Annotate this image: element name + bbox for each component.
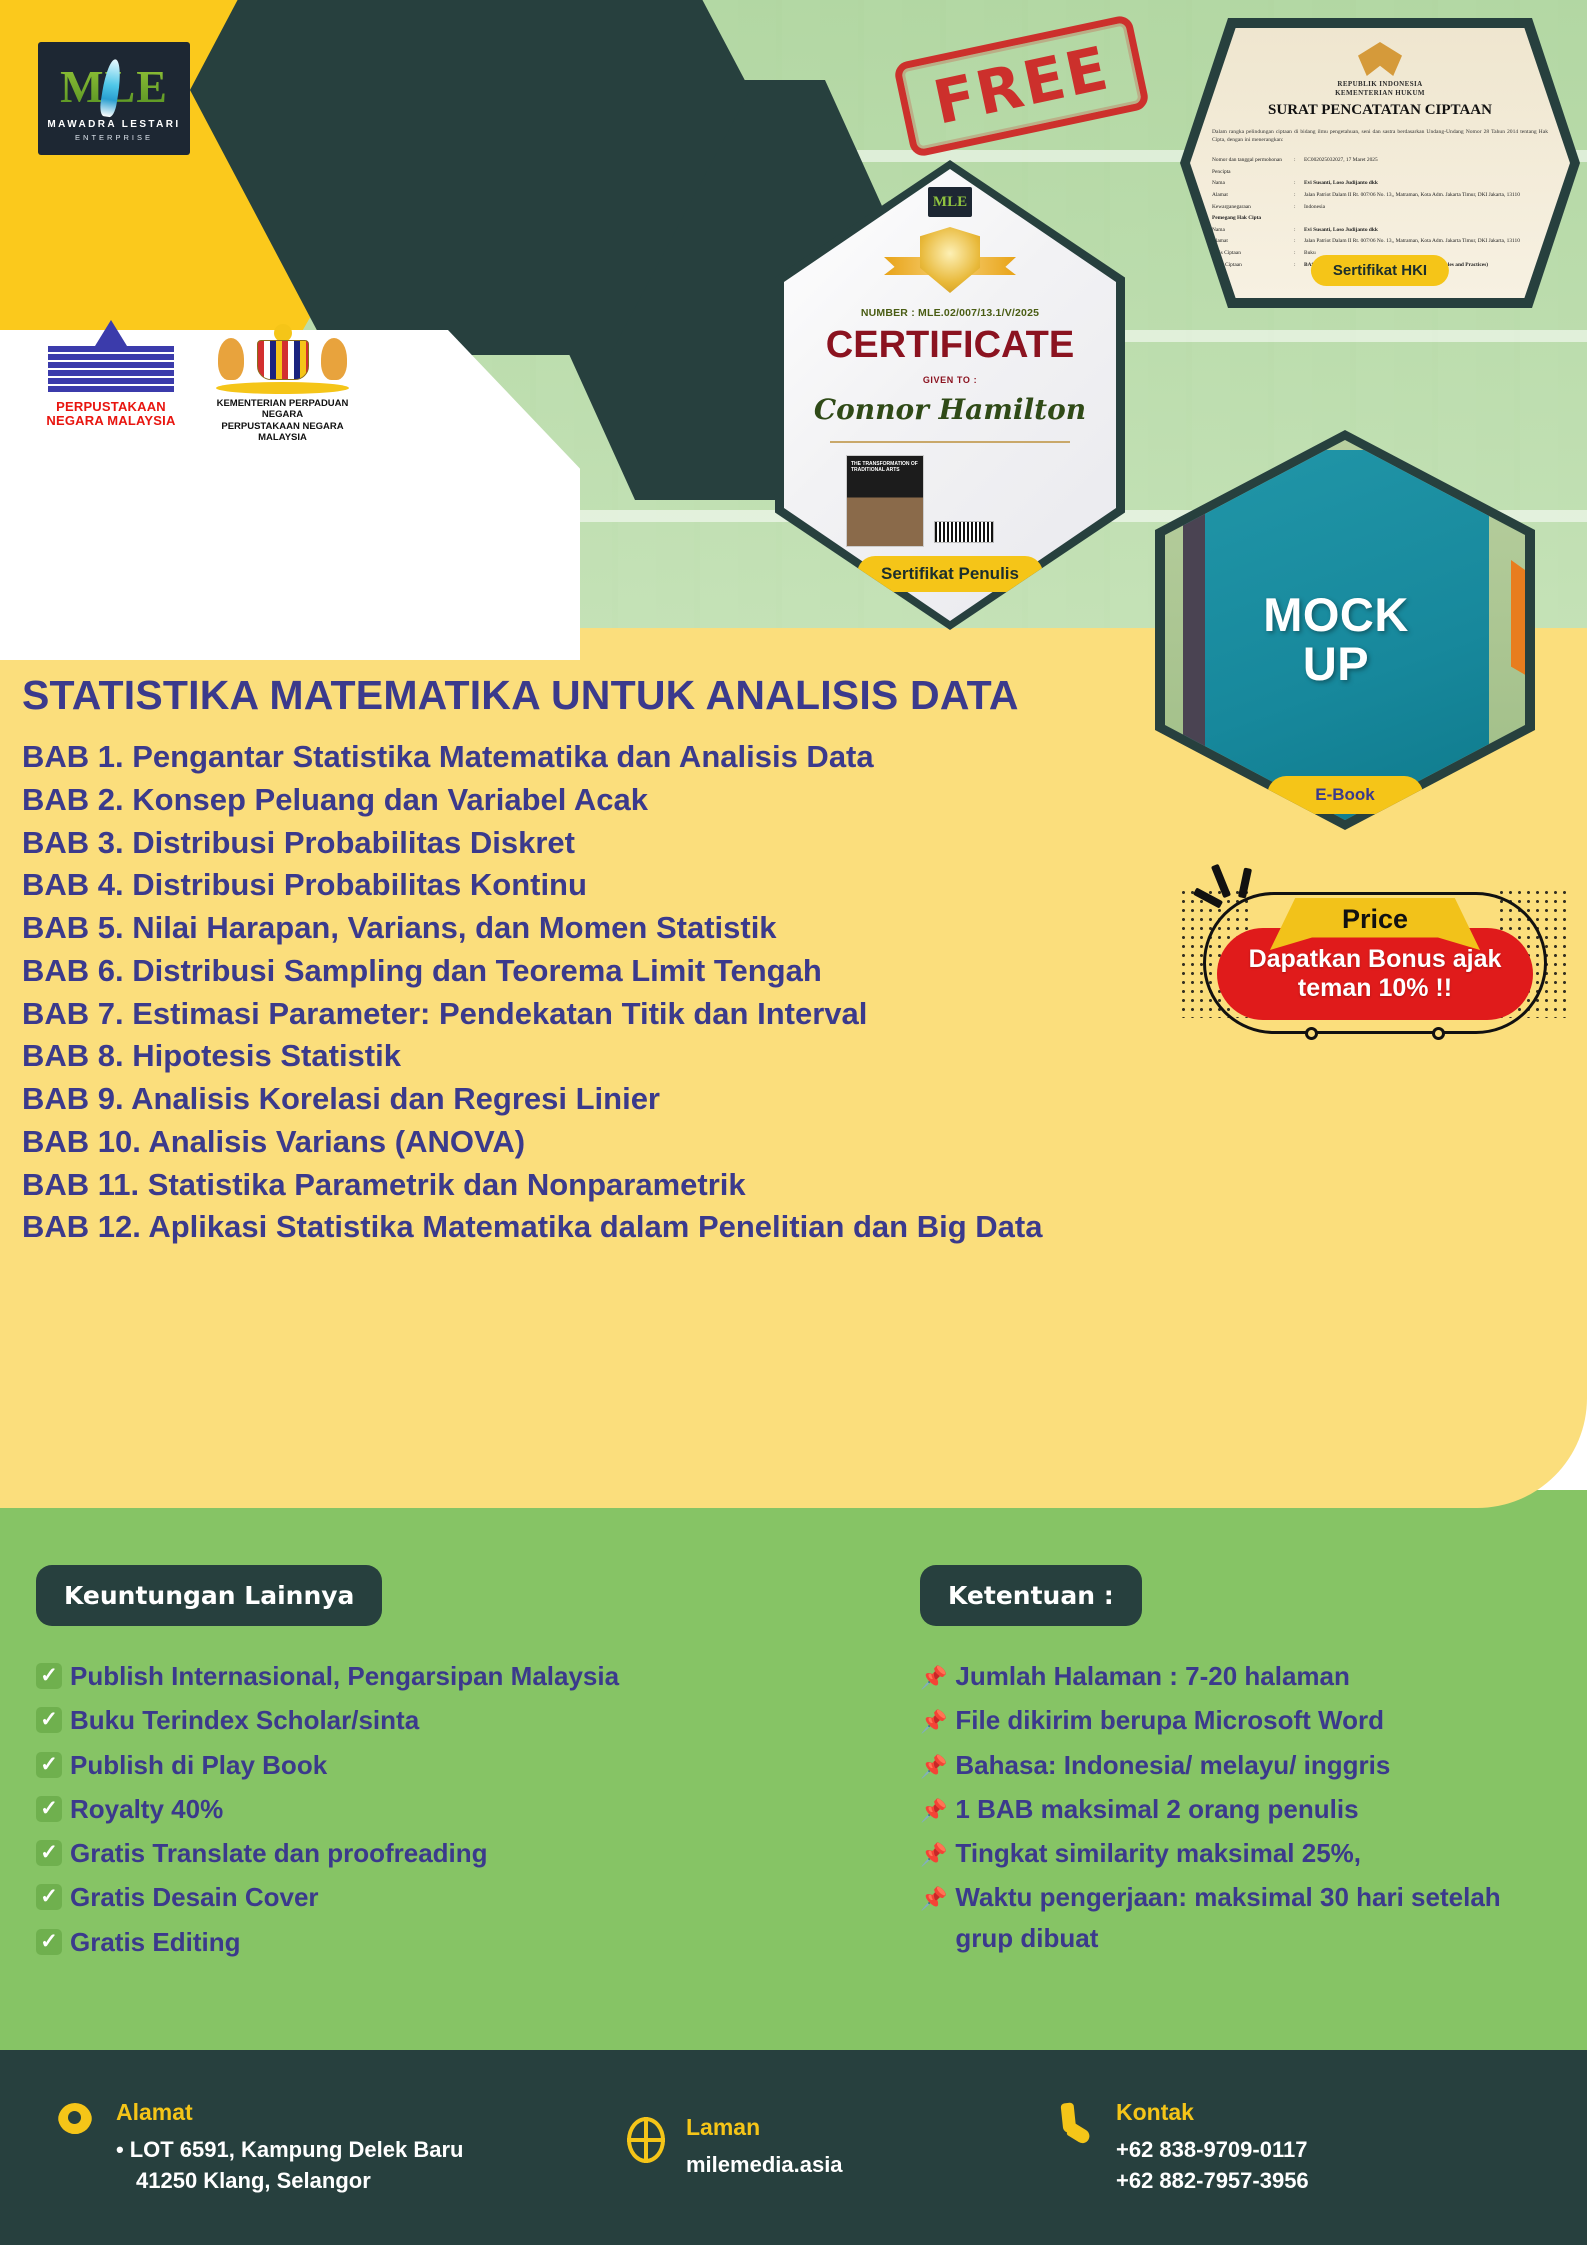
phone-icon	[1052, 2099, 1100, 2151]
mockup-book-cover: MLE MOCK UP	[1183, 450, 1489, 820]
benefit-label: Buku Terindex Scholar/sinta	[70, 1700, 419, 1740]
footer-phone-1[interactable]: +62 838-9709-0117	[1116, 2134, 1309, 2165]
footer-website-block[interactable]: Laman milemedia.asia	[622, 2114, 1042, 2180]
hki-row-value: Indonesia	[1304, 203, 1548, 212]
benefit-item: ✓Royalty 40%	[36, 1789, 676, 1829]
benefit-item: ✓Buku Terindex Scholar/sinta	[36, 1700, 676, 1740]
hki-row-key: Pemegang Hak Cipta	[1212, 215, 1261, 221]
hki-row-value: Jalan Patriot Dalam II Rt. 007/06 No. 13…	[1304, 237, 1548, 246]
footer-website-value[interactable]: milemedia.asia	[686, 2149, 843, 2180]
footer-contact-label: Kontak	[1116, 2099, 1309, 2126]
hki-row-key: Nama	[1212, 179, 1290, 188]
term-item: 📌Tingkat similarity maksimal 25%,	[920, 1833, 1560, 1873]
price-offer-line1: Dapatkan Bonus ajak	[1249, 945, 1502, 975]
pushpin-icon: 📌	[920, 1750, 947, 1784]
term-item: 📌Waktu pengerjaan: maksimal 30 hari sete…	[920, 1877, 1560, 1958]
footer-website-label: Laman	[686, 2114, 843, 2141]
term-item: 📌Bahasa: Indonesia/ melayu/ inggris	[920, 1745, 1560, 1785]
pushpin-icon: 📌	[920, 1661, 947, 1695]
hki-row-value: Evi Susanti, Loso Judijanto dkk	[1304, 227, 1378, 233]
badge-sertifikat-hki[interactable]: Sertifikat HKI	[1311, 255, 1449, 286]
chapter-item: BAB 12. Aplikasi Statistika Matematika d…	[22, 1206, 1587, 1249]
check-icon: ✓	[36, 1929, 62, 1955]
hki-row-value: Evi Susanti, Loso Judijanto dkk	[1304, 180, 1378, 186]
hki-republic-lines: REPUBLIK INDONESIA KEMENTERIAN HUKUM	[1190, 80, 1570, 99]
certificate-barcode-icon	[934, 521, 994, 543]
hki-row-key: Judul Ciptaan	[1212, 261, 1290, 270]
footer-address-block: Alamat •LOT 6591, Kampung Delek Baru 412…	[52, 2099, 612, 2196]
hki-row-key: Jenis Ciptaan	[1212, 249, 1290, 258]
malaysia-coat-of-arms-icon	[200, 320, 365, 398]
term-label: Bahasa: Indonesia/ melayu/ inggris	[955, 1745, 1390, 1785]
check-icon: ✓	[36, 1796, 62, 1822]
check-icon: ✓	[36, 1707, 62, 1733]
brand-logo: MLE MAWADRA LESTARI ENTERPRISE	[38, 42, 190, 155]
certificate-logo: MLE	[928, 187, 972, 217]
price-promo-burst: Dapatkan Bonus ajak teman 10% !! Price	[1195, 870, 1555, 1050]
term-label: Waktu pengerjaan: maksimal 30 hari setel…	[955, 1877, 1560, 1958]
garuda-emblem-icon	[1358, 42, 1402, 76]
burst-dot	[1432, 1027, 1445, 1040]
pushpin-icon: 📌	[920, 1882, 947, 1916]
mockup-orange-page	[1511, 560, 1525, 690]
benefit-label: Royalty 40%	[70, 1789, 223, 1829]
footer-address-line2: 41250 Klang, Selangor	[116, 2165, 463, 2196]
chapter-item: BAB 3. Distribusi Probabilitas Diskret	[22, 822, 1587, 865]
terms-list: 📌Jumlah Halaman : 7-20 halaman 📌File dik…	[920, 1656, 1560, 1958]
pushpin-icon: 📌	[920, 1838, 947, 1872]
term-item: 📌File dikirim berupa Microsoft Word	[920, 1700, 1560, 1740]
hki-row-key: Pencipta	[1212, 168, 1290, 177]
hki-row-value: EC002025032027, 17 Maret 2025	[1304, 156, 1548, 165]
institution-logos: PERPUSTAKAAN NEGARA MALAYSIA KEMENTERIAN…	[36, 320, 365, 444]
logo-company-sub: ENTERPRISE	[75, 133, 153, 142]
benefit-item: ✓Gratis Desain Cover	[36, 1877, 676, 1917]
certificate-number: NUMBER : MLE.02/007/13.1/V/2025	[784, 307, 1116, 319]
mockup-title: MOCK UP	[1183, 590, 1489, 689]
hki-certificate-hexagon: REPUBLIK INDONESIA KEMENTERIAN HUKUM SUR…	[1180, 18, 1580, 308]
hki-row-key: Kewarganegaraan	[1212, 203, 1290, 212]
hki-row-key: Nomor dan tanggal permohonan	[1212, 156, 1290, 165]
benefit-label: Gratis Desain Cover	[70, 1877, 319, 1917]
hki-row-value: Jalan Patriot Dalam II Rt. 007/06 No. 13…	[1304, 191, 1548, 200]
location-pin-icon	[52, 2099, 100, 2151]
hki-republic-line2: KEMENTERIAN HUKUM	[1190, 89, 1570, 98]
benefit-item: ✓Publish di Play Book	[36, 1745, 676, 1785]
hki-row-key: Nama	[1212, 226, 1290, 235]
benefit-label: Gratis Translate dan proofreading	[70, 1833, 488, 1873]
term-label: Tingkat similarity maksimal 25%,	[955, 1833, 1361, 1873]
benefit-item: ✓Gratis Editing	[36, 1922, 676, 1962]
chapter-item: BAB 10. Analisis Varians (ANOVA)	[22, 1121, 1587, 1164]
term-label: File dikirim berupa Microsoft Word	[955, 1700, 1384, 1740]
logo-company-name: MAWADRA LESTARI	[47, 119, 180, 130]
kpn-label-line1: KEMENTERIAN PERPADUAN NEGARA	[200, 398, 365, 421]
certificate-recipient-name: Connor Hamilton	[784, 393, 1116, 426]
benefit-item: ✓Gratis Translate dan proofreading	[36, 1833, 676, 1873]
price-offer-line2: teman 10% !!	[1249, 974, 1502, 1004]
burst-dot	[1305, 1027, 1318, 1040]
benefits-column: Keuntungan Lainnya ✓Publish Internasiona…	[36, 1565, 676, 1966]
term-item: 📌Jumlah Halaman : 7-20 halaman	[920, 1656, 1560, 1696]
certificate-book-caption: THE TRANSFORMATION OF TRADITIONAL ARTS	[847, 456, 923, 474]
price-ribbon-label: Price	[1342, 904, 1408, 935]
mockup-title-line2: UP	[1183, 639, 1489, 688]
footer-address-label: Alamat	[116, 2099, 463, 2126]
certificate-heading: CERTIFICATE	[784, 324, 1116, 367]
hki-title: SURAT PENCATATAN CIPTAAN	[1190, 102, 1570, 119]
pnm-emblem-icon	[36, 320, 186, 400]
benefit-label: Publish Internasional, Pengarsipan Malay…	[70, 1656, 619, 1696]
check-icon: ✓	[36, 1840, 62, 1866]
footer-contact-block[interactable]: Kontak +62 838-9709-0117 +62 882-7957-39…	[1052, 2099, 1532, 2196]
footer-address-line1: •LOT 6591, Kampung Delek Baru	[116, 2134, 463, 2165]
check-icon: ✓	[36, 1884, 62, 1910]
benefit-label: Publish di Play Book	[70, 1745, 327, 1785]
ebook-mockup-image: MLE MOCK UP	[1165, 440, 1525, 820]
term-item: 📌1 BAB maksimal 2 orang penulis	[920, 1789, 1560, 1829]
poster-root: MLE MAWADRA LESTARI ENTERPRISE PERPUSTAK…	[0, 0, 1587, 2245]
benefits-heading: Keuntungan Lainnya	[36, 1565, 382, 1626]
kpn-label-line2: PERPUSTAKAAN NEGARA MALAYSIA	[200, 421, 365, 444]
check-icon: ✓	[36, 1663, 62, 1689]
benefit-label: Gratis Editing	[70, 1922, 240, 1962]
hki-intro-text: Dalam rangka pelindungan ciptaan di bida…	[1212, 128, 1548, 145]
benefits-list: ✓Publish Internasional, Pengarsipan Mala…	[36, 1656, 676, 1962]
pnm-label-line1: PERPUSTAKAAN	[36, 400, 186, 414]
footer-phone-2[interactable]: +62 882-7957-3956	[1116, 2165, 1309, 2196]
chapter-item: BAB 9. Analisis Korelasi dan Regresi Lin…	[22, 1078, 1587, 1121]
certificate-book-thumbnail: THE TRANSFORMATION OF TRADITIONAL ARTS	[846, 455, 924, 547]
logo-mark: MLE	[38, 55, 190, 117]
hki-row-key: Alamat	[1212, 237, 1290, 246]
hki-republic-line1: REPUBLIK INDONESIA	[1190, 80, 1570, 89]
mockup-title-line1: MOCK	[1183, 590, 1489, 639]
terms-heading: Ketentuan :	[920, 1565, 1142, 1626]
term-label: Jumlah Halaman : 7-20 halaman	[955, 1656, 1349, 1696]
term-label: 1 BAB maksimal 2 orang penulis	[955, 1789, 1358, 1829]
certificate-shield-icon	[920, 227, 980, 293]
certificate-given-to-label: GIVEN TO :	[784, 375, 1116, 385]
footer: Alamat •LOT 6591, Kampung Delek Baru 412…	[0, 2050, 1587, 2245]
kementerian-perpaduan-negara-logo: KEMENTERIAN PERPADUAN NEGARA PERPUSTAKAA…	[200, 320, 365, 444]
book-title: STATISTIKA MATEMATIKA UNTUK ANALISIS DAT…	[22, 670, 1072, 720]
certificate-divider	[830, 441, 1070, 443]
check-icon: ✓	[36, 1752, 62, 1778]
price-offer-text: Dapatkan Bonus ajak teman 10% !!	[1217, 928, 1533, 1020]
perpustakaan-negara-malaysia-logo: PERPUSTAKAAN NEGARA MALAYSIA	[36, 320, 186, 427]
terms-column: Ketentuan : 📌Jumlah Halaman : 7-20 halam…	[920, 1565, 1560, 1962]
hki-row-key: Alamat	[1212, 191, 1290, 200]
chapter-item: BAB 11. Statistika Parametrik dan Nonpar…	[22, 1164, 1587, 1207]
benefit-item: ✓Publish Internasional, Pengarsipan Mala…	[36, 1656, 676, 1696]
pushpin-icon: 📌	[920, 1794, 947, 1828]
pushpin-icon: 📌	[920, 1705, 947, 1739]
globe-icon	[622, 2114, 670, 2166]
pnm-label-line2: NEGARA MALAYSIA	[36, 414, 186, 428]
